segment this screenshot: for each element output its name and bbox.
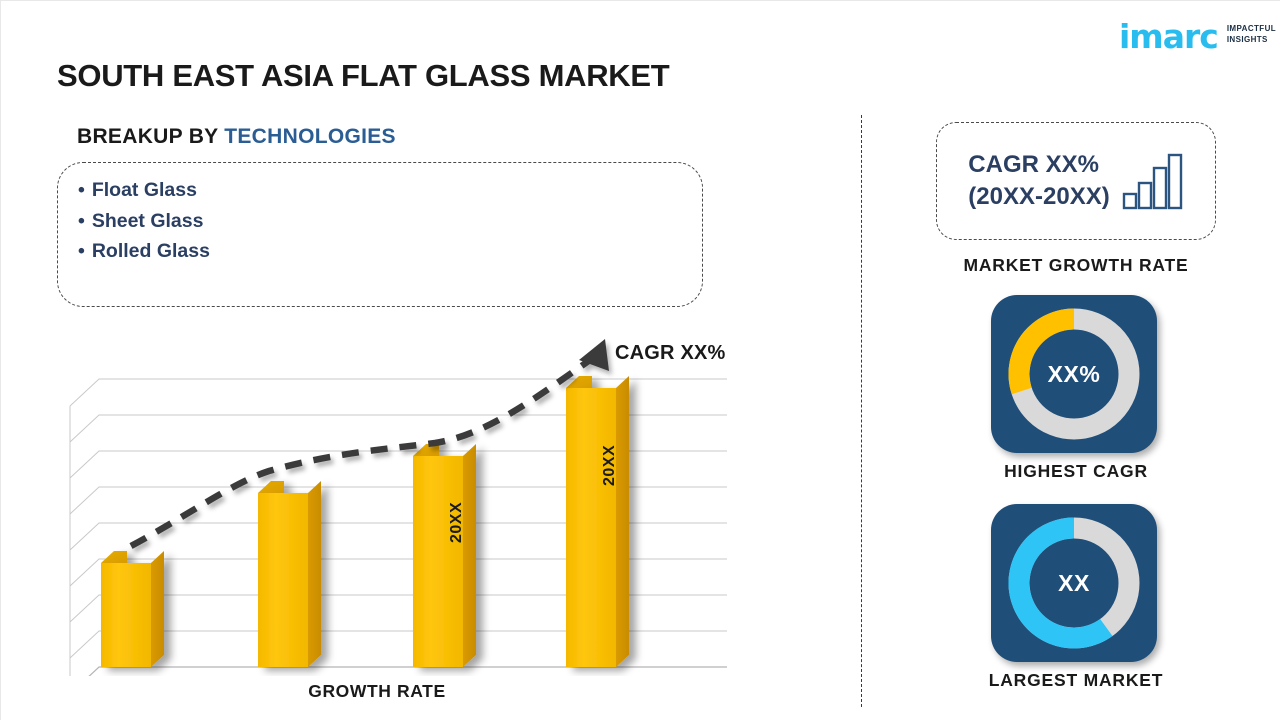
list-item: Float Glass [78, 175, 210, 206]
highest-cagr-value: XX% [991, 295, 1157, 453]
largest-market-card: XX [991, 504, 1157, 662]
subtitle-prefix: BREAKUP BY [77, 125, 224, 148]
largest-market-value: XX [991, 504, 1157, 662]
bar-group-3 [413, 444, 476, 667]
cagr-summary-box: CAGR XX% (20XX-20XX) [936, 122, 1216, 240]
chart-baseline [70, 667, 727, 676]
infographic-page: imarc IMPACTFUL INSIGHTS SOUTH EAST ASIA… [0, 0, 1280, 720]
cagr-annotation: CAGR XX% [615, 342, 726, 365]
bar-group-4 [566, 376, 629, 667]
chart-svg [57, 331, 757, 676]
logo-tagline: IMPACTFUL INSIGHTS [1227, 23, 1276, 45]
bar-group-2 [258, 481, 321, 667]
caption-market-growth-rate: MARKET GROWTH RATE [926, 255, 1226, 276]
logo-wordmark: imarc [1119, 20, 1218, 53]
logo-tagline-line1: IMPACTFUL [1227, 23, 1276, 34]
subtitle-accent: TECHNOLOGIES [224, 125, 396, 148]
cagr-line-1: CAGR XX% [968, 149, 1109, 181]
list-item: Rolled Glass [78, 236, 210, 267]
growth-rate-bar-chart: 20XX 20XX CAGR XX% GROWTH RATE [57, 331, 757, 711]
logo-tagline-line2: INSIGHTS [1227, 34, 1276, 45]
ascending-bar-chart-icon [1122, 152, 1184, 210]
highest-cagr-card: XX% [991, 295, 1157, 453]
segments-list: Float Glass Sheet Glass Rolled Glass [78, 175, 210, 267]
vertical-divider [861, 115, 862, 707]
cagr-line-2: (20XX-20XX) [968, 181, 1109, 213]
imarc-logo: imarc IMPACTFUL INSIGHTS [1119, 13, 1269, 55]
segments-panel: Float Glass Sheet Glass Rolled Glass [57, 162, 703, 307]
bar-label-3: 20XX [448, 502, 466, 543]
caption-highest-cagr: HIGHEST CAGR [926, 461, 1226, 482]
x-axis-label: GROWTH RATE [57, 681, 697, 702]
cagr-summary-text: CAGR XX% (20XX-20XX) [968, 149, 1109, 213]
cagr-trendline [131, 339, 609, 546]
caption-largest-market: LARGEST MARKET [926, 670, 1226, 691]
bar-label-4: 20XX [601, 445, 619, 486]
page-title: SOUTH EAST ASIA FLAT GLASS MARKET [57, 58, 669, 94]
list-item: Sheet Glass [78, 206, 210, 237]
bar-group-1 [101, 551, 164, 667]
page-subtitle: BREAKUP BY TECHNOLOGIES [77, 125, 396, 149]
